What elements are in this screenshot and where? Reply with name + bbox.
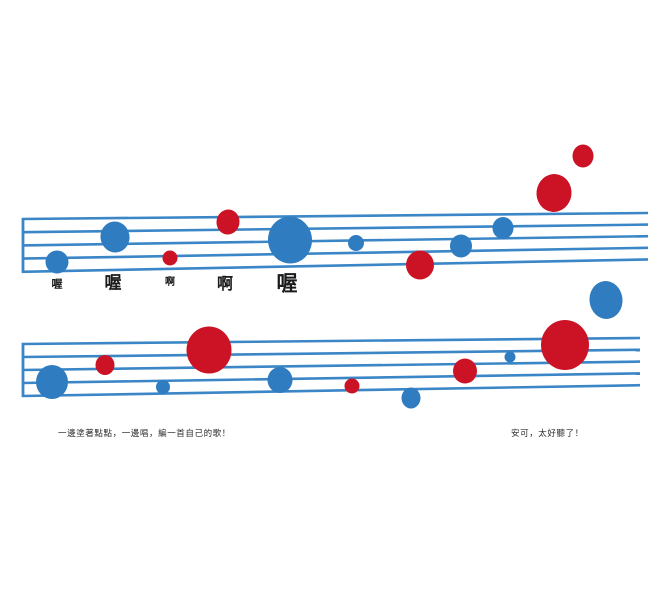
note-dot-red-n14 — [96, 355, 115, 375]
page-canvas: 喔喔啊啊喔 一邊塗著點點，一邊唱，編一首自己的歌！ 安可，太好聽了！ — [0, 0, 655, 609]
note-dot-red-n18 — [345, 379, 360, 394]
note-dot-blue-n06 — [348, 235, 364, 251]
note-dot-red-n16 — [187, 327, 232, 374]
lyric-syllable-3: 啊 — [165, 278, 175, 288]
note-dot-blue-n08 — [450, 235, 472, 258]
note-dot-red-n22 — [541, 320, 589, 370]
note-dot-blue-n19 — [402, 388, 421, 409]
staff-top-line-1 — [22, 213, 648, 219]
staff-bottom-line-5 — [22, 385, 640, 396]
note-dot-red-n20 — [453, 359, 477, 384]
staff-bottom-line-3 — [22, 362, 640, 370]
lyric-syllable-4: 啊 — [217, 276, 233, 292]
note-dot-blue-n17 — [268, 367, 293, 393]
note-dot-blue-n21 — [505, 352, 516, 363]
note-dot-blue-n05 — [266, 215, 314, 266]
note-dot-blue-n13 — [36, 365, 68, 399]
note-dot-red-n04 — [215, 208, 241, 236]
caption-right: 安可，太好聽了！ — [511, 430, 584, 439]
music-illustration — [0, 0, 655, 609]
note-dot-red-n03 — [163, 251, 178, 266]
note-dot-red-n10 — [535, 172, 574, 213]
lyric-syllable-1: 喔 — [52, 279, 63, 290]
note-dot-blue-n12 — [588, 279, 625, 320]
caption-left: 一邊塗著點點，一邊唱，編一首自己的歌！ — [58, 430, 231, 439]
note-dot-blue-n01 — [46, 251, 69, 274]
staff-bottom-line-4 — [22, 373, 640, 383]
note-dot-blue-n15 — [156, 380, 170, 394]
note-dot-red-n11 — [573, 145, 594, 168]
staff-top-line-5 — [22, 259, 648, 271]
lyric-syllable-5: 喔 — [277, 274, 298, 295]
note-dot-red-n07 — [406, 251, 434, 280]
lyric-syllable-2: 喔 — [105, 276, 122, 293]
note-dot-blue-n02 — [98, 219, 132, 255]
note-dot-blue-n09 — [493, 217, 514, 239]
